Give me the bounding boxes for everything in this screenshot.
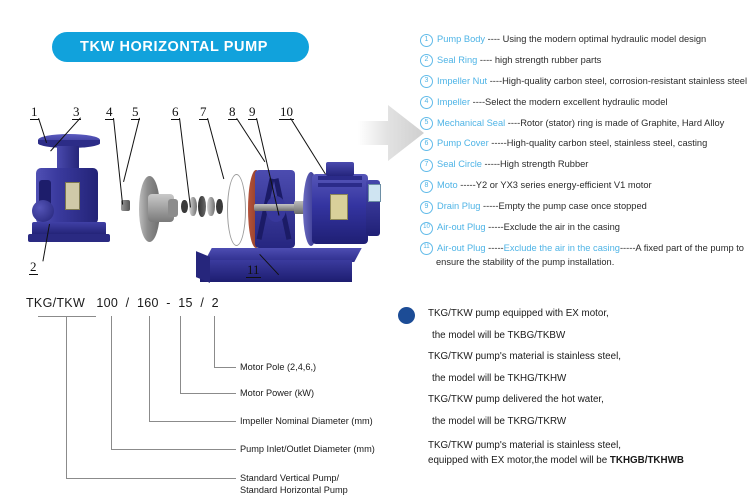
legend-item: 5 Mechanical Seal ----Rotor (stator) rin… [420, 117, 752, 131]
pump-body-base [28, 234, 110, 242]
legend-item: 11 Air-out Plug -----Exclude the air in … [420, 242, 752, 256]
legend-part-name: Air-out Plug [437, 222, 486, 232]
leader-line-10 [290, 118, 326, 175]
legend-desc-continued: ensure the stability of the pump install… [436, 256, 752, 268]
leader-line-7 [207, 118, 224, 179]
bracket-stem-motor-pole [214, 316, 215, 368]
bracket-arm-impeller-dia [149, 421, 236, 422]
legend-sep: ----- [489, 138, 507, 148]
circled-number-icon: 9 [420, 201, 433, 214]
legend-part-name: Drain Plug [437, 201, 480, 211]
legend-part-name: Impeller [437, 97, 470, 107]
model-label-impeller-dia: Impeller Nominal Diameter (mm) [240, 415, 373, 428]
legend-item: 7 Seal Circle -----High strength Rubber [420, 158, 752, 172]
circled-number-icon: 5 [420, 117, 433, 130]
mechanical-seal-part-d [207, 197, 215, 216]
legend-desc: High strength Rubber [500, 159, 588, 169]
right-arrow-icon [358, 97, 426, 169]
circled-number-icon: 1 [420, 34, 433, 47]
model-label-pump-type-2: Standard Horizontal Pump [240, 484, 348, 497]
motor-fin [318, 183, 362, 187]
callout-8: 8 [229, 105, 236, 118]
note-line: the model will be TKBG/TKBW [432, 325, 748, 347]
legend-sep-2: ----- [620, 243, 635, 253]
bracket-arm-inlet-dia [111, 449, 236, 450]
note-line: the model will be TKHG/TKHW [432, 368, 748, 390]
legend-item: 3 Impeller Nut ----High-quality carbon s… [420, 75, 752, 89]
legend-part-name: Mechanical Seal [437, 118, 505, 128]
legend-part-name: Pump Cover [437, 138, 489, 148]
leader-line-6 [179, 118, 191, 207]
page-title-banner: TKW HORIZONTAL PUMP [52, 32, 309, 62]
callout-11: 11 [247, 263, 260, 276]
bracket-arm-pump-type [66, 478, 236, 479]
legend-sep: ----- [458, 180, 476, 190]
motor-fin [318, 176, 362, 180]
legend-desc: Y2 or YX3 series energy-efficient V1 mot… [476, 180, 652, 190]
mechanical-seal-part-a [181, 200, 188, 213]
motor-label [368, 184, 381, 202]
note-line: TKG/TKW pump equipped with EX motor, [428, 303, 748, 325]
bracket-stem-inlet-dia [111, 316, 112, 450]
model-label-motor-pole: Motor Pole (2,4,6,) [240, 361, 316, 374]
note-line: the model will be TKRG/TKRW [432, 411, 748, 433]
legend-desc: Using the modern optimal hydraulic model… [503, 34, 707, 44]
legend-part-name: Moto [437, 180, 458, 190]
callout-1: 1 [31, 105, 38, 118]
model-label-motor-power: Motor Power (kW) [240, 387, 314, 400]
legend-part-name: Air-out Plug [437, 243, 486, 253]
bracket-stem-pump-type [66, 316, 67, 479]
circled-number-icon: 2 [420, 54, 433, 67]
note-line: TKG/TKW pump delivered the hot water, [428, 389, 748, 411]
base-plate-side [196, 251, 210, 283]
legend-item: 6 Pump Cover -----High-quality carbon st… [420, 137, 752, 151]
model-label-inlet-dia: Pump Inlet/Outlet Diameter (mm) [240, 443, 375, 456]
callout-5: 5 [132, 105, 139, 118]
motor-shaft [254, 204, 296, 211]
legend-item: 2 Seal Ring ---- high strength rubber pa… [420, 54, 752, 68]
mechanical-seal-part-e [216, 199, 223, 214]
legend-sep: ---- [477, 55, 495, 65]
legend-part-name: Seal Circle [437, 159, 482, 169]
callout-2: 2 [30, 260, 37, 273]
model-code-diagram: TKG/TKW 100 / 160 - 15 / 2 Motor Pole (2… [16, 296, 356, 492]
callout-7: 7 [200, 105, 207, 118]
page-title: TKW HORIZONTAL PUMP [80, 39, 268, 55]
circled-number-icon: 4 [420, 96, 433, 109]
callout-9: 9 [249, 105, 256, 118]
legend-part-name: Pump Body [437, 34, 485, 44]
callout-3: 3 [73, 105, 80, 118]
note-line: TKG/TKW pump's material is stainless ste… [428, 346, 748, 368]
pump-body-nameplate [65, 182, 80, 210]
legend-part-name: Impeller Nut [437, 76, 487, 86]
bracket-stem-motor-power [180, 316, 181, 394]
legend-sep: ----- [486, 222, 504, 232]
legend-desc: Rotor (stator) ring is made of Graphite,… [520, 118, 724, 128]
legend-desc: High-quality carbon steel, stainless ste… [507, 138, 708, 148]
note-line-last: equipped with EX motor,the model will be… [428, 453, 748, 468]
legend-sep: ----- [486, 243, 504, 253]
callout-10: 10 [280, 105, 293, 118]
legend-desc: High-quality carbon steel, corrosion-res… [502, 76, 747, 86]
seal-circle-oring [227, 174, 246, 246]
legend-sep: ---- [487, 76, 502, 86]
model-label-pump-type-1: Standard Vertical Pump/ [240, 472, 339, 485]
legend-sep: ----- [482, 159, 500, 169]
legend-desc: high strength rubber parts [495, 55, 601, 65]
legend-item: 10 Air-out Plug -----Exclude the air in … [420, 221, 752, 235]
legend-desc: Exclude the air in the casing [504, 222, 620, 232]
legend-desc-blue: Exclude the air in the casing [504, 243, 620, 253]
legend-sep: ---- [485, 34, 503, 44]
legend-item: 4 Impeller ----Select the modern excelle… [420, 96, 752, 110]
legend-desc: Select the modern excellent hydraulic mo… [485, 97, 667, 107]
exploded-pump-diagram: 1 3 4 5 6 7 8 9 10 2 11 [8, 96, 358, 288]
legend-sep: ----- [480, 201, 498, 211]
bracket-arm-motor-pole [214, 367, 236, 368]
legend-desc: Empty the pump case once stopped [499, 201, 647, 211]
bullet-dot-icon [398, 307, 415, 324]
legend-sep: ---- [470, 97, 485, 107]
note-last-model: TKHGB/TKHWB [610, 455, 684, 466]
legend-part-name: Seal Ring [437, 55, 477, 65]
legend-sep: ---- [505, 118, 520, 128]
note-line: TKG/TKW pump's material is stainless ste… [428, 438, 748, 453]
model-variant-notes: TKG/TKW pump equipped with EX motor, the… [398, 303, 748, 468]
parts-legend: 1 Pump Body ---- Using the modern optima… [420, 33, 752, 268]
circled-number-icon: 10 [420, 222, 433, 235]
circled-number-icon: 3 [420, 75, 433, 88]
leader-line-5 [123, 118, 140, 182]
callout-6: 6 [172, 105, 179, 118]
circled-number-icon: 8 [420, 180, 433, 193]
legend-item: 8 Moto -----Y2 or YX3 series energy-effi… [420, 179, 752, 193]
motor-terminal-box [326, 162, 354, 176]
callout-4: 4 [106, 105, 113, 118]
circled-number-icon: 6 [420, 138, 433, 151]
leader-line-4 [113, 118, 123, 205]
legend-item: 1 Pump Body ---- Using the modern optima… [420, 33, 752, 47]
note-last-prefix: equipped with EX motor,the model will be [428, 455, 610, 466]
pump-body-hub [32, 200, 54, 222]
mechanical-seal-part-c [198, 196, 206, 217]
circled-number-icon: 7 [420, 159, 433, 172]
bracket-arm-motor-power [180, 393, 236, 394]
legend-desc: A fixed part of the pump to [635, 243, 744, 253]
model-code-text: TKG/TKW 100 / 160 - 15 / 2 [26, 296, 219, 310]
impeller-boss [168, 199, 178, 217]
bracket-stem-impeller-dia [149, 316, 150, 422]
motor-nameplate [330, 194, 348, 220]
circled-number-icon: 11 [420, 242, 433, 255]
legend-item: 9 Drain Plug -----Empty the pump case on… [420, 200, 752, 214]
